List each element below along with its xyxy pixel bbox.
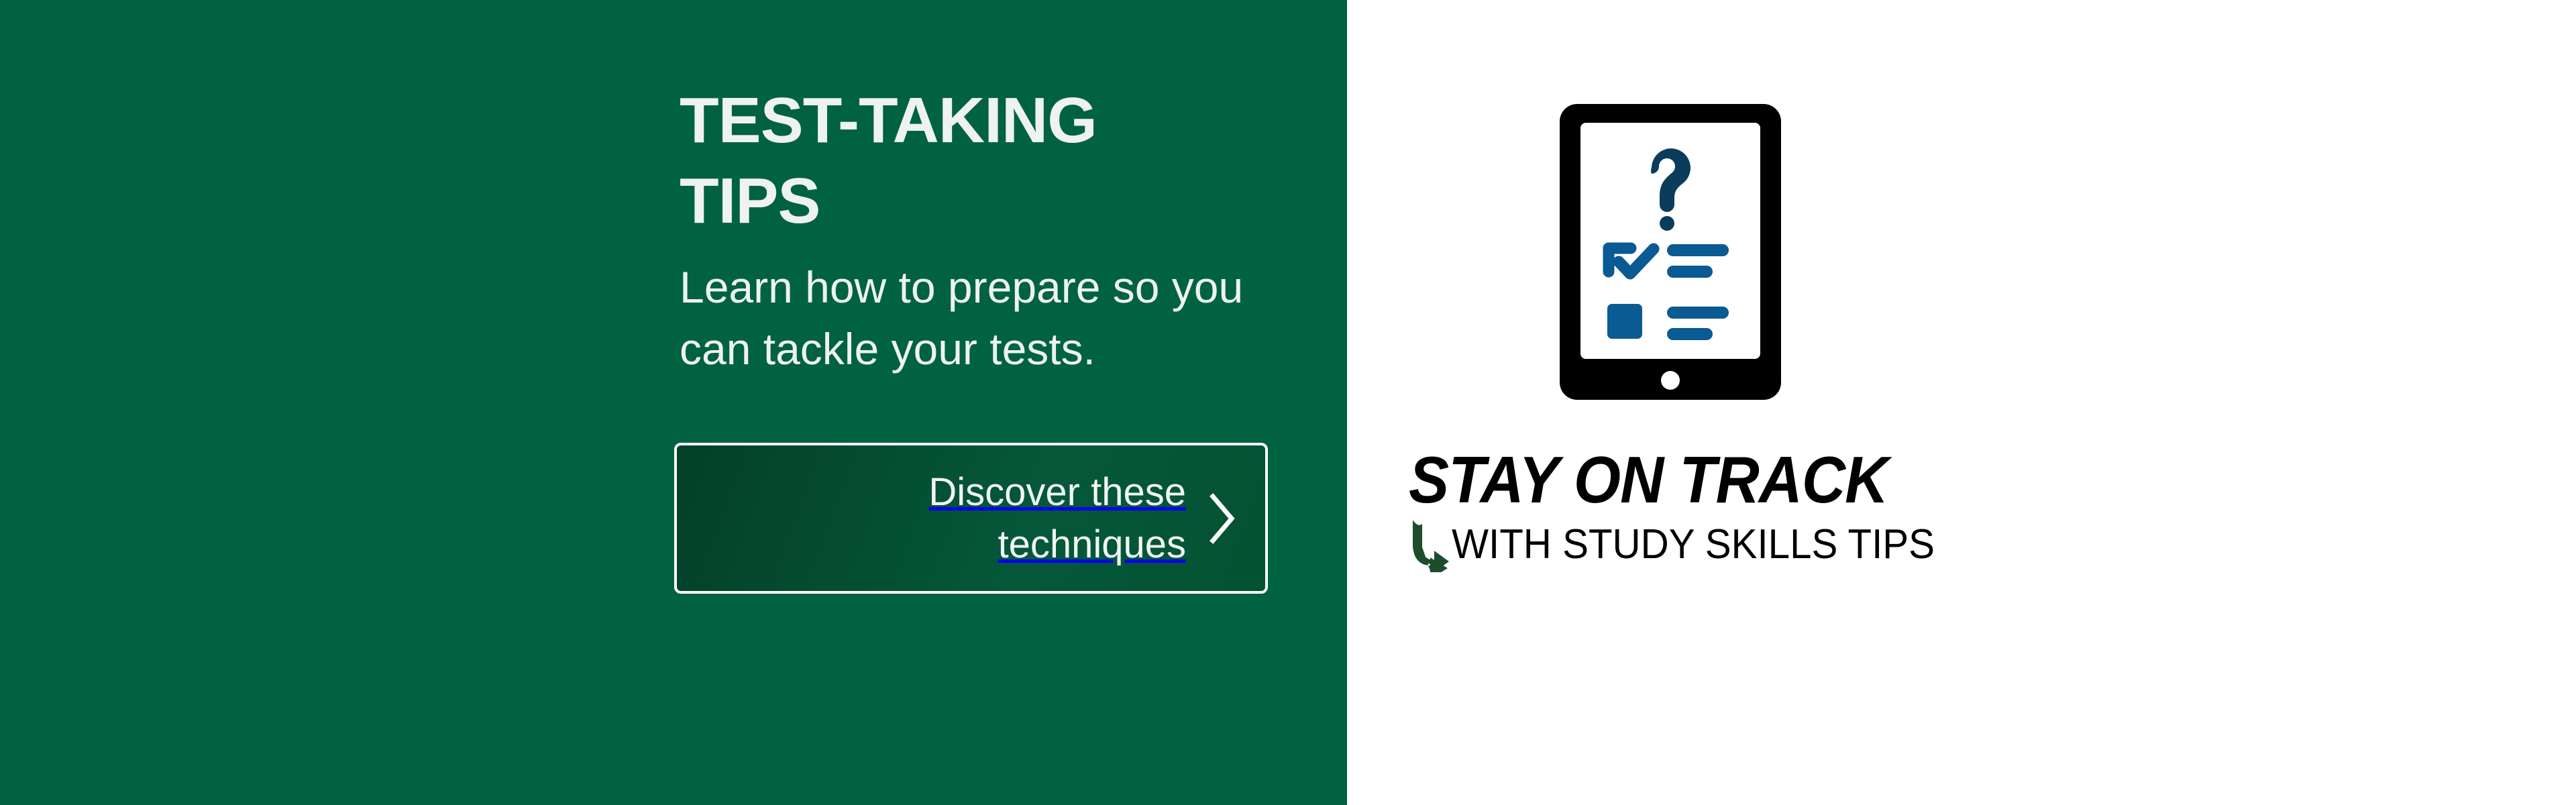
brand-panel: STAY ON TRACK WITH STUDY SKILLS TIPS (1347, 0, 2576, 805)
promo-content: TEST-TAKING TIPS Learn how to prepare so… (680, 80, 1283, 380)
tablet-quiz-icon (1560, 104, 1781, 400)
brand-tagline: WITH STUDY SKILLS TIPS (1452, 521, 1935, 568)
promo-subheading: Learn how to prepare so you can tackle y… (680, 256, 1270, 380)
filled-square-icon (1607, 304, 1642, 339)
brand-lockup: STAY ON TRACK WITH STUDY SKILLS TIPS (1409, 446, 1986, 572)
brand-tagline-row: WITH STUDY SKILLS TIPS (1409, 517, 1986, 572)
promo-panel: TEST-TAKING TIPS Learn how to prepare so… (0, 0, 1347, 805)
brand-title: STAY ON TRACK (1409, 446, 1939, 513)
discover-techniques-button[interactable]: Discover these techniques (674, 443, 1268, 594)
page-title: TEST-TAKING TIPS (680, 80, 1149, 241)
chevron-right-icon (1206, 492, 1237, 545)
cta-button-label: Discover these techniques (810, 466, 1186, 571)
curved-arrow-icon (1409, 517, 1450, 572)
promo-banner: TEST-TAKING TIPS Learn how to prepare so… (0, 0, 2576, 805)
